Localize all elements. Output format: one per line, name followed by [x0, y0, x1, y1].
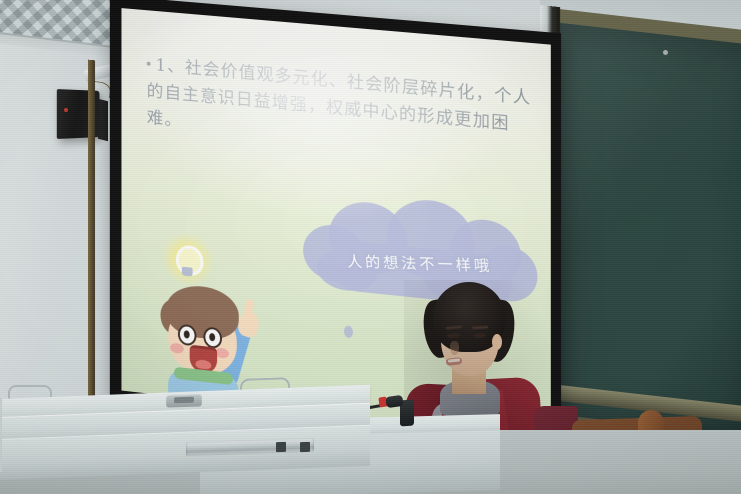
screen-side-trim [88, 60, 95, 431]
slide-bullet-icon [147, 62, 151, 66]
drawer-rail-stop [276, 442, 286, 452]
thought-bubble-shape [303, 188, 537, 310]
slide-body-text: 1、社会价值观多元化、社会阶层碎片化，个人的自主意识日益增强，权威中心的形成更加… [147, 52, 547, 169]
lightbulb-base [182, 267, 193, 277]
boy-pupil-right [209, 333, 215, 342]
lectern-side-cap [0, 398, 2, 472]
lecture-hall-photo: 1、社会价值观多元化、社会阶层碎片化，个人的自主意识日益增强，权威中心的形成更加… [0, 0, 741, 494]
projection-screen-surface: 1、社会价值观多元化、社会阶层碎片化，个人的自主意识日益增强，权威中心的形成更加… [121, 8, 550, 438]
chalkboard-mark [663, 50, 668, 55]
drawer-rail-stop [300, 442, 310, 452]
speaker-led-icon [64, 108, 68, 112]
presenter-ear [492, 334, 502, 350]
presenter-nose [450, 341, 459, 355]
boy-pupil-left [184, 330, 190, 339]
slide-accent-dot [344, 325, 353, 338]
chalkboard-sheen [560, 23, 741, 437]
podium-latch-icon[interactable] [166, 393, 202, 407]
slide-text-content: 1、社会价值观多元化、社会阶层碎片化，个人的自主意识日益增强，权威中心的形成更加… [147, 55, 532, 134]
